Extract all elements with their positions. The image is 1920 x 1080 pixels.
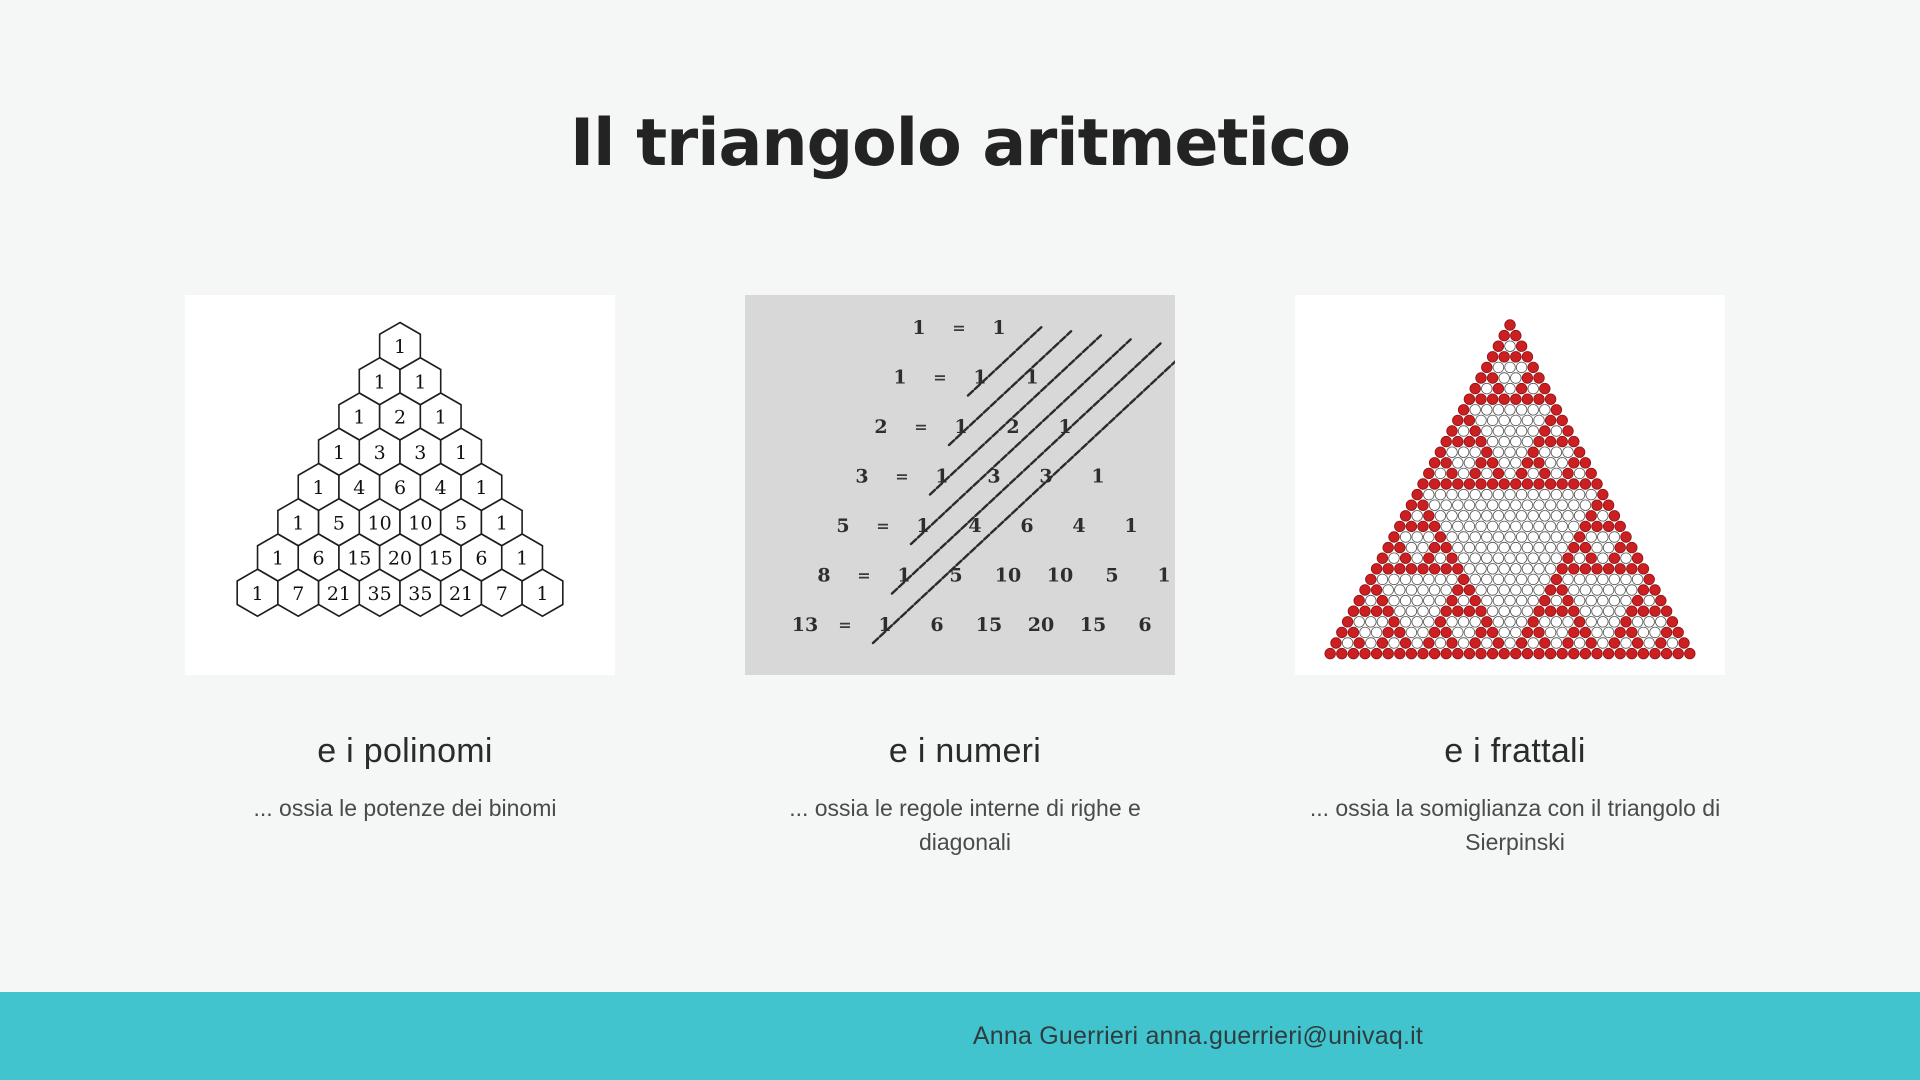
sierpinski-bead [1522, 500, 1533, 511]
sierpinski-bead [1499, 458, 1510, 469]
sierpinski-bead [1540, 617, 1551, 628]
sierpinski-bead [1360, 627, 1371, 638]
sierpinski-bead [1505, 468, 1516, 479]
sierpinski-bead [1627, 564, 1638, 575]
sierpinski-bead [1505, 383, 1516, 394]
sierpinski-bead [1505, 447, 1516, 458]
sierpinski-bead [1511, 542, 1522, 553]
sierpinski-bead [1470, 574, 1481, 585]
sierpinski-bead [1569, 648, 1580, 659]
sierpinski-bead [1360, 606, 1371, 617]
sierpinski-bead [1400, 511, 1411, 522]
sierpinski-bead [1482, 468, 1493, 479]
hex-cell-value: 5 [333, 512, 345, 534]
sierpinski-bead [1574, 489, 1585, 500]
sierpinski-bead [1534, 436, 1545, 447]
sierpinski-bead [1540, 574, 1551, 585]
sierpinski-bead [1470, 638, 1481, 649]
sierpinski-bead [1447, 553, 1458, 564]
sierpinski-bead [1383, 585, 1394, 596]
sierpinski-bead [1499, 479, 1510, 490]
sierpinski-bead [1505, 320, 1516, 331]
sierpinski-bead [1476, 585, 1487, 596]
sierpinski-bead [1493, 383, 1504, 394]
sierpinski-bead [1435, 511, 1446, 522]
sierpinski-bead [1516, 383, 1527, 394]
sierpinski-bead [1424, 468, 1435, 479]
sierpinski-bead [1522, 648, 1533, 659]
sierpinski-bead [1360, 585, 1371, 596]
sierpinski-bead [1453, 521, 1464, 532]
sierpinski-bead [1395, 585, 1406, 596]
sierpinski-bead [1447, 595, 1458, 606]
sierpinski-bead [1499, 627, 1510, 638]
sierpinski-bead [1598, 489, 1609, 500]
sierpinski-bead [1441, 521, 1452, 532]
sierpinski-bead [1580, 500, 1591, 511]
sierpinski-bead [1493, 532, 1504, 543]
sierpinski-bead [1522, 479, 1533, 490]
sierpinski-bead [1580, 627, 1591, 638]
pascal-term-value: 6 [1020, 515, 1033, 537]
sierpinski-bead [1592, 627, 1603, 638]
sierpinski-bead [1447, 532, 1458, 543]
sierpinski-bead [1621, 532, 1632, 543]
sierpinski-bead [1464, 542, 1475, 553]
sierpinski-bead [1574, 638, 1585, 649]
sierpinski-beads-svg [1310, 305, 1710, 665]
sierpinski-bead [1499, 394, 1510, 405]
sierpinski-bead [1389, 574, 1400, 585]
fibonacci-sum-value: 1 [893, 367, 906, 389]
sierpinski-bead [1511, 415, 1522, 426]
sierpinski-bead [1534, 648, 1545, 659]
sierpinski-bead [1435, 489, 1446, 500]
sierpinski-bead [1429, 648, 1440, 659]
caption-title-frattali: e i frattali [1295, 732, 1735, 771]
sierpinski-bead [1354, 617, 1365, 628]
caption-subtitle-polinomi: ... ossia le potenze dei binomi [185, 791, 625, 825]
sierpinski-bead [1522, 606, 1533, 617]
sierpinski-bead [1650, 606, 1661, 617]
sierpinski-bead [1586, 595, 1597, 606]
sierpinski-bead [1656, 595, 1667, 606]
sierpinski-bead [1464, 436, 1475, 447]
fibonacci-sum-value: 2 [874, 416, 887, 438]
sierpinski-bead [1482, 574, 1493, 585]
sierpinski-bead [1551, 447, 1562, 458]
sierpinski-bead [1447, 511, 1458, 522]
sierpinski-bead [1592, 479, 1603, 490]
hex-cell-value: 1 [475, 477, 487, 499]
sierpinski-bead [1638, 585, 1649, 596]
hex-cell-value: 20 [388, 548, 412, 570]
sierpinski-bead [1516, 341, 1527, 352]
sierpinski-bead [1528, 595, 1539, 606]
caption-subtitle-frattali: ... ossia la somiglianza con il triangol… [1295, 791, 1735, 859]
sierpinski-bead [1563, 532, 1574, 543]
sierpinski-bead [1592, 564, 1603, 575]
sierpinski-bead [1540, 447, 1551, 458]
sierpinski-bead [1522, 373, 1533, 384]
sierpinski-bead [1470, 511, 1481, 522]
sierpinski-bead [1476, 373, 1487, 384]
sierpinski-bead [1557, 479, 1568, 490]
sierpinski-bead [1406, 564, 1417, 575]
sierpinski-bead [1377, 617, 1388, 628]
equals-sign: = [876, 517, 889, 536]
sierpinski-bead [1342, 638, 1353, 649]
sierpinski-bead [1638, 564, 1649, 575]
sierpinski-bead [1447, 489, 1458, 500]
sierpinski-bead [1487, 648, 1498, 659]
sierpinski-bead [1400, 574, 1411, 585]
sierpinski-bead [1458, 532, 1469, 543]
sierpinski-bead [1586, 638, 1597, 649]
sierpinski-bead [1470, 468, 1481, 479]
sierpinski-bead [1603, 627, 1614, 638]
sierpinski-bead [1598, 638, 1609, 649]
sierpinski-bead [1493, 447, 1504, 458]
sierpinski-bead [1545, 627, 1556, 638]
figure-sierpinski-beads [1295, 295, 1725, 675]
pascal-term-value: 15 [976, 614, 1002, 636]
sierpinski-bead [1534, 394, 1545, 405]
sierpinski-bead [1511, 479, 1522, 490]
sierpinski-bead [1458, 468, 1469, 479]
sierpinski-bead [1551, 489, 1562, 500]
sierpinski-bead [1534, 521, 1545, 532]
sierpinski-bead [1551, 426, 1562, 437]
sierpinski-bead [1424, 553, 1435, 564]
sierpinski-bead [1667, 617, 1678, 628]
sierpinski-bead [1487, 500, 1498, 511]
hex-cell-value: 6 [313, 548, 325, 570]
sierpinski-bead [1482, 362, 1493, 373]
sierpinski-bead [1499, 330, 1510, 341]
sierpinski-bead [1528, 511, 1539, 522]
sierpinski-bead [1371, 648, 1382, 659]
sierpinski-bead [1487, 521, 1498, 532]
sierpinski-bead [1580, 648, 1591, 659]
hex-cell-value: 3 [374, 442, 386, 464]
sierpinski-bead [1482, 511, 1493, 522]
sierpinski-bead [1528, 489, 1539, 500]
sierpinski-bead [1470, 532, 1481, 543]
sierpinski-bead [1516, 638, 1527, 649]
sierpinski-bead [1453, 627, 1464, 638]
sierpinski-bead [1511, 606, 1522, 617]
sierpinski-bead [1511, 436, 1522, 447]
sierpinski-bead [1493, 468, 1504, 479]
sierpinski-bead [1627, 585, 1638, 596]
sierpinski-bead [1493, 595, 1504, 606]
sierpinski-bead [1487, 564, 1498, 575]
sierpinski-bead [1371, 606, 1382, 617]
hex-cell-value: 1 [251, 583, 263, 605]
hex-cell-value: 6 [394, 477, 406, 499]
sierpinski-bead [1458, 553, 1469, 564]
pascal-term-value: 5 [949, 565, 962, 587]
sierpinski-bead [1615, 606, 1626, 617]
sierpinski-bead [1464, 458, 1475, 469]
sierpinski-bead [1656, 617, 1667, 628]
hex-cell-value: 1 [435, 407, 447, 429]
sierpinski-bead [1545, 436, 1556, 447]
hex-cell-value: 1 [516, 548, 528, 570]
sierpinski-bead [1482, 553, 1493, 564]
sierpinski-bead [1574, 511, 1585, 522]
pascal-term-value: 4 [1072, 515, 1085, 537]
sierpinski-bead [1418, 542, 1429, 553]
sierpinski-bead [1476, 542, 1487, 553]
sierpinski-bead [1487, 415, 1498, 426]
sierpinski-bead [1505, 511, 1516, 522]
sierpinski-bead [1586, 553, 1597, 564]
sierpinski-bead [1557, 648, 1568, 659]
sierpinski-bead [1505, 426, 1516, 437]
sierpinski-bead [1574, 447, 1585, 458]
sierpinski-bead [1511, 330, 1522, 341]
sierpinski-bead [1482, 532, 1493, 543]
sierpinski-bead [1557, 500, 1568, 511]
hex-cell-value: 1 [374, 371, 386, 393]
sierpinski-bead [1615, 627, 1626, 638]
sierpinski-bead [1627, 542, 1638, 553]
sierpinski-bead [1453, 500, 1464, 511]
sierpinski-bead [1429, 500, 1440, 511]
sierpinski-bead [1557, 564, 1568, 575]
sierpinski-bead [1418, 627, 1429, 638]
sierpinski-bead [1545, 415, 1556, 426]
sierpinski-bead [1540, 468, 1551, 479]
sierpinski-bead [1348, 606, 1359, 617]
sierpinski-bead [1424, 617, 1435, 628]
sierpinski-bead [1540, 595, 1551, 606]
sierpinski-bead [1354, 595, 1365, 606]
sierpinski-bead [1621, 617, 1632, 628]
pascal-term-value: 4 [968, 515, 981, 537]
sierpinski-bead [1441, 585, 1452, 596]
sierpinski-bead [1337, 627, 1348, 638]
sierpinski-bead [1383, 606, 1394, 617]
fibonacci-diagonals-svg: 1=11=112=1213=13315=146418=1510105113=16… [745, 295, 1175, 675]
sierpinski-bead [1528, 405, 1539, 416]
sierpinski-bead [1482, 383, 1493, 394]
sierpinski-bead [1511, 373, 1522, 384]
sierpinski-bead [1435, 638, 1446, 649]
sierpinski-bead [1400, 617, 1411, 628]
sierpinski-bead [1331, 638, 1342, 649]
sierpinski-bead [1366, 595, 1377, 606]
sierpinski-bead [1412, 489, 1423, 500]
sierpinski-bead [1458, 574, 1469, 585]
equals-sign: = [914, 418, 927, 437]
sierpinski-bead [1569, 627, 1580, 638]
sierpinski-bead [1395, 521, 1406, 532]
sierpinski-bead [1534, 373, 1545, 384]
hex-cell-value: 1 [536, 583, 548, 605]
sierpinski-bead [1534, 500, 1545, 511]
sierpinski-bead [1424, 532, 1435, 543]
sierpinski-bead [1580, 606, 1591, 617]
sierpinski-bead [1511, 585, 1522, 596]
sierpinski-bead [1371, 627, 1382, 638]
sierpinski-bead [1366, 574, 1377, 585]
sierpinski-bead [1644, 595, 1655, 606]
sierpinski-bead [1412, 574, 1423, 585]
sierpinski-bead [1528, 383, 1539, 394]
hex-cell-value: 7 [292, 583, 304, 605]
sierpinski-bead [1458, 447, 1469, 458]
sierpinski-bead [1389, 553, 1400, 564]
sierpinski-bead [1621, 595, 1632, 606]
sierpinski-bead [1499, 436, 1510, 447]
sierpinski-bead [1661, 627, 1672, 638]
sierpinski-bead [1505, 638, 1516, 649]
sierpinski-bead [1580, 542, 1591, 553]
sierpinski-bead [1464, 500, 1475, 511]
sierpinski-bead [1482, 617, 1493, 628]
sierpinski-bead [1534, 627, 1545, 638]
sierpinski-bead [1609, 532, 1620, 543]
sierpinski-bead [1441, 648, 1452, 659]
sierpinski-bead [1395, 606, 1406, 617]
sierpinski-bead [1569, 606, 1580, 617]
sierpinski-bead [1563, 574, 1574, 585]
sierpinski-bead [1569, 479, 1580, 490]
sierpinski-bead [1470, 489, 1481, 500]
pascal-term-value: 1 [1157, 565, 1170, 587]
sierpinski-bead [1487, 436, 1498, 447]
sierpinski-bead [1551, 468, 1562, 479]
sierpinski-bead [1551, 405, 1562, 416]
sierpinski-bead [1516, 468, 1527, 479]
pascal-term-value: 1 [1025, 367, 1038, 389]
sierpinski-bead [1540, 553, 1551, 564]
sierpinski-bead [1493, 405, 1504, 416]
sierpinski-bead [1586, 574, 1597, 585]
sierpinski-bead [1453, 542, 1464, 553]
sierpinski-bead [1557, 606, 1568, 617]
hex-cell-value: 6 [475, 548, 487, 570]
hex-cell-value: 1 [455, 442, 467, 464]
sierpinski-bead [1586, 489, 1597, 500]
sierpinski-bead [1458, 638, 1469, 649]
sierpinski-bead [1464, 479, 1475, 490]
sierpinski-bead [1528, 553, 1539, 564]
sierpinski-bead [1632, 553, 1643, 564]
fibonacci-sum-value: 3 [855, 466, 868, 488]
sierpinski-bead [1511, 521, 1522, 532]
hex-cell-value: 10 [368, 512, 392, 534]
sierpinski-bead [1516, 532, 1527, 543]
equals-sign: = [838, 616, 851, 635]
sierpinski-bead [1470, 405, 1481, 416]
sierpinski-bead [1505, 553, 1516, 564]
sierpinski-bead [1505, 532, 1516, 543]
sierpinski-bead [1447, 468, 1458, 479]
sierpinski-bead [1574, 553, 1585, 564]
sierpinski-bead [1493, 511, 1504, 522]
sierpinski-bead [1487, 479, 1498, 490]
sierpinski-bead [1458, 426, 1469, 437]
equals-sign: = [952, 319, 965, 338]
sierpinski-bead [1580, 479, 1591, 490]
sierpinski-bead [1441, 564, 1452, 575]
sierpinski-bead [1522, 436, 1533, 447]
sierpinski-bead [1598, 595, 1609, 606]
sierpinski-bead [1516, 362, 1527, 373]
sierpinski-bead [1435, 447, 1446, 458]
sierpinski-bead [1458, 405, 1469, 416]
sierpinski-bead [1487, 606, 1498, 617]
sierpinski-bead [1574, 532, 1585, 543]
sierpinski-bead [1429, 458, 1440, 469]
sierpinski-bead [1511, 500, 1522, 511]
sierpinski-bead [1435, 595, 1446, 606]
sierpinski-bead [1650, 585, 1661, 596]
sierpinski-bead [1424, 595, 1435, 606]
sierpinski-bead [1615, 542, 1626, 553]
sierpinski-bead [1435, 532, 1446, 543]
sierpinski-bead [1557, 415, 1568, 426]
page-title: Il triangolo aritmetico [0, 106, 1920, 181]
hex-cell-value: 35 [408, 583, 432, 605]
hex-cell-value: 15 [347, 548, 371, 570]
sierpinski-bead [1511, 458, 1522, 469]
sierpinski-bead [1389, 595, 1400, 606]
hex-cell-value: 1 [414, 371, 426, 393]
sierpinski-bead [1592, 500, 1603, 511]
hex-pascal-triangle-svg: 1111211331146411510105116152015611721353… [200, 320, 600, 650]
sierpinski-bead [1522, 352, 1533, 363]
sierpinski-bead [1603, 606, 1614, 617]
sierpinski-bead [1545, 458, 1556, 469]
sierpinski-bead [1522, 458, 1533, 469]
sierpinski-bead [1458, 511, 1469, 522]
sierpinski-bead [1418, 606, 1429, 617]
sierpinski-bead [1476, 415, 1487, 426]
sierpinski-bead [1609, 595, 1620, 606]
sierpinski-bead [1493, 362, 1504, 373]
sierpinski-bead [1337, 648, 1348, 659]
hex-cell-value: 35 [368, 583, 392, 605]
sierpinski-bead [1557, 542, 1568, 553]
sierpinski-bead [1534, 458, 1545, 469]
hex-cell-value: 1 [496, 512, 508, 534]
sierpinski-bead [1377, 595, 1388, 606]
sierpinski-bead [1574, 617, 1585, 628]
sierpinski-bead [1545, 394, 1556, 405]
sierpinski-bead [1412, 511, 1423, 522]
sierpinski-bead [1545, 479, 1556, 490]
sierpinski-bead [1499, 606, 1510, 617]
sierpinski-bead [1609, 511, 1620, 522]
sierpinski-bead [1609, 638, 1620, 649]
sierpinski-bead [1406, 648, 1417, 659]
footer-author-contact: Anna Guerrieri anna.guerrieri@univaq.it [0, 992, 1920, 1080]
sierpinski-bead [1470, 426, 1481, 437]
sierpinski-bead [1476, 627, 1487, 638]
sierpinski-bead [1360, 648, 1371, 659]
sierpinski-bead [1493, 574, 1504, 585]
sierpinski-bead [1487, 352, 1498, 363]
sierpinski-bead [1383, 627, 1394, 638]
pascal-term-value: 10 [995, 565, 1021, 587]
sierpinski-bead [1505, 362, 1516, 373]
hex-cell-value: 1 [353, 407, 365, 429]
